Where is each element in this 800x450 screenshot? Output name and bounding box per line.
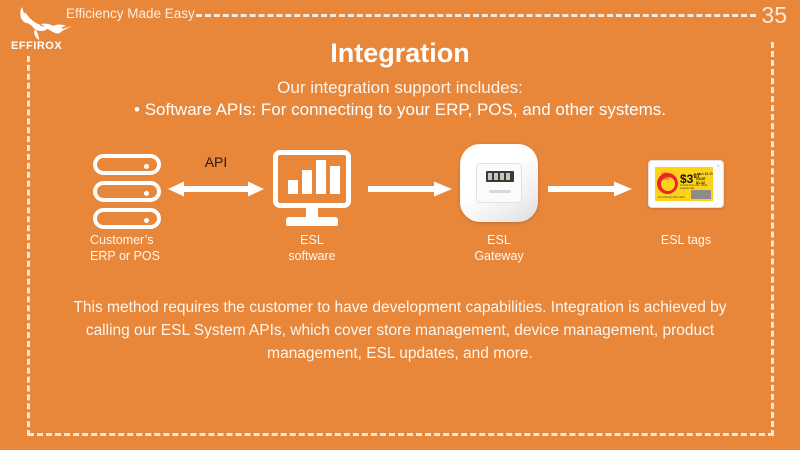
barcode-icon xyxy=(691,190,711,199)
tag-indicator-dot xyxy=(717,165,719,167)
display-segment xyxy=(494,173,498,180)
discount-off: OFF xyxy=(655,176,676,181)
monitor-chart-icon xyxy=(273,150,351,230)
server-unit xyxy=(93,208,161,229)
gateway-device-icon xyxy=(460,144,538,224)
bullet-text: • Software APIs: For connecting to your … xyxy=(0,100,800,120)
display-segment xyxy=(500,173,504,180)
gateway-body xyxy=(460,144,538,222)
server-unit xyxy=(93,181,161,202)
gateway-faceplate xyxy=(476,163,522,203)
chart-bar xyxy=(330,166,340,194)
monitor-base xyxy=(286,217,338,226)
chart-bar xyxy=(288,180,298,194)
node-caption-esl-tags: ESL tags xyxy=(626,232,746,248)
gateway-vent xyxy=(489,190,511,193)
server-stack-icon xyxy=(93,154,161,230)
server-led-icon xyxy=(144,164,149,169)
page-number: 35 xyxy=(761,2,787,29)
caption-line: software xyxy=(252,248,372,264)
api-bidirectional-arrow-icon xyxy=(168,180,264,198)
chart-bar xyxy=(316,160,326,194)
page-title: Integration xyxy=(0,38,800,69)
node-caption-esl-gateway: ESL Gateway xyxy=(439,232,559,264)
flow-arrow-right-icon xyxy=(368,180,452,198)
monitor-screen xyxy=(273,150,351,208)
tagline-text: Efficiency Made Easy xyxy=(66,6,195,21)
esl-tag-body: 25% OFF $397 each $4.39 SAVE $1.32 Limit… xyxy=(648,160,724,208)
dashed-line-bottom xyxy=(28,433,774,436)
api-label: API xyxy=(168,154,264,170)
display-segment xyxy=(488,173,492,180)
node-caption-erp-pos: Customer’s ERP or POS xyxy=(90,232,210,264)
flow-arrow-right-icon xyxy=(548,180,632,198)
caption-line: ESL xyxy=(439,232,559,248)
caption-line: ESL tags xyxy=(626,232,746,248)
dashed-line-top xyxy=(196,14,756,17)
esl-tag-screen: 25% OFF $397 each $4.39 SAVE $1.32 Limit… xyxy=(655,167,713,201)
integration-flow-diagram: Customer’s ERP or POS API ESL software xyxy=(0,136,800,276)
caption-line: ERP or POS xyxy=(90,248,210,264)
server-unit xyxy=(93,154,161,175)
node-caption-esl-software: ESL software xyxy=(252,232,372,264)
server-led-icon xyxy=(144,191,149,196)
chart-bar xyxy=(302,170,312,194)
discount-text: 25% OFF xyxy=(655,171,676,181)
subtitle-text: Our integration support includes: xyxy=(0,78,800,98)
display-segment xyxy=(506,173,510,180)
slide-canvas: EFFIROX Efficiency Made Easy 35 Integrat… xyxy=(0,0,800,450)
gateway-display xyxy=(486,171,514,182)
caption-line: Customer’s xyxy=(90,232,210,248)
tag-sku-line: 110-229-334 SKU 4421 xyxy=(658,196,685,199)
caption-line: ESL xyxy=(252,232,372,248)
caption-line: Gateway xyxy=(439,248,559,264)
server-led-icon xyxy=(144,218,149,223)
note-paragraph: This method requires the customer to hav… xyxy=(60,296,740,365)
tag-unit-price: each $4.39 xyxy=(697,172,713,176)
esl-tag-icon: 25% OFF $397 each $4.39 SAVE $1.32 Limit… xyxy=(648,160,724,208)
